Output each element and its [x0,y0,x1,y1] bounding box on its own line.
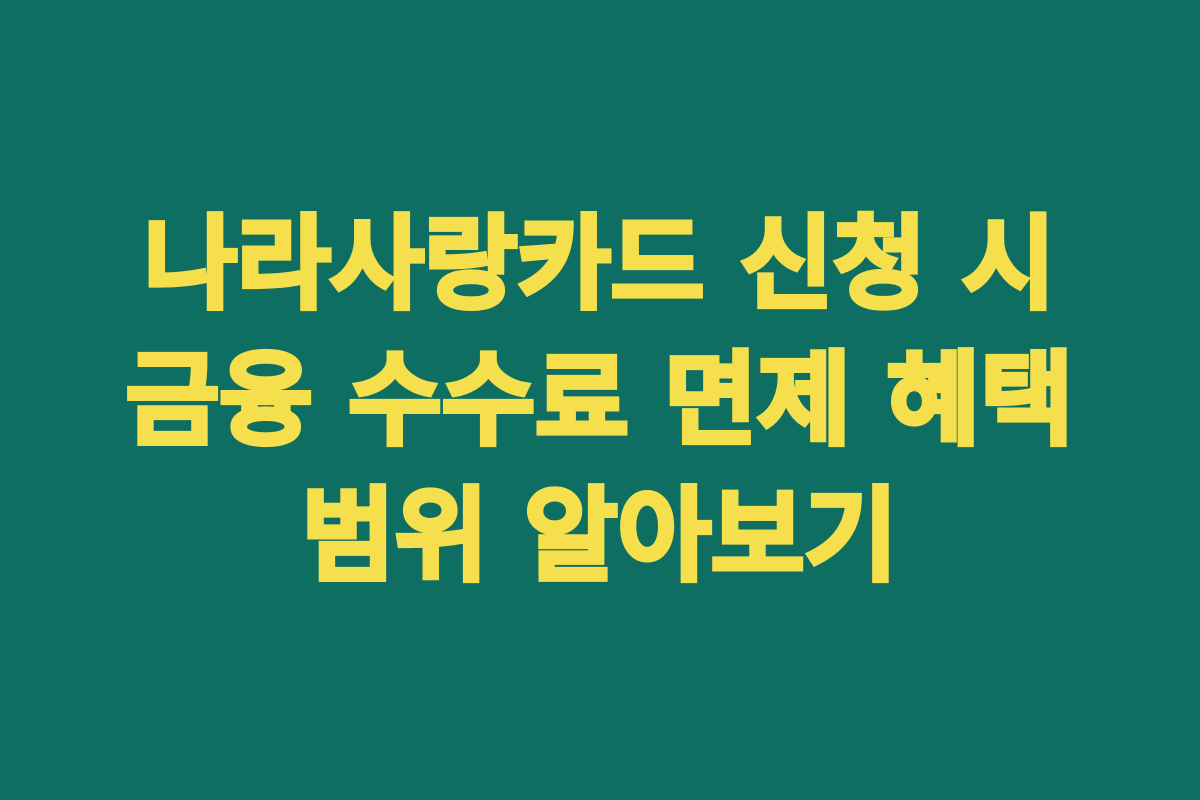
banner-headline: 나라사랑카드 신청 시 금융 수수료 면제 혜택 범위 알아보기 [75,196,1125,604]
banner-container: 나라사랑카드 신청 시 금융 수수료 면제 혜택 범위 알아보기 [0,0,1200,800]
